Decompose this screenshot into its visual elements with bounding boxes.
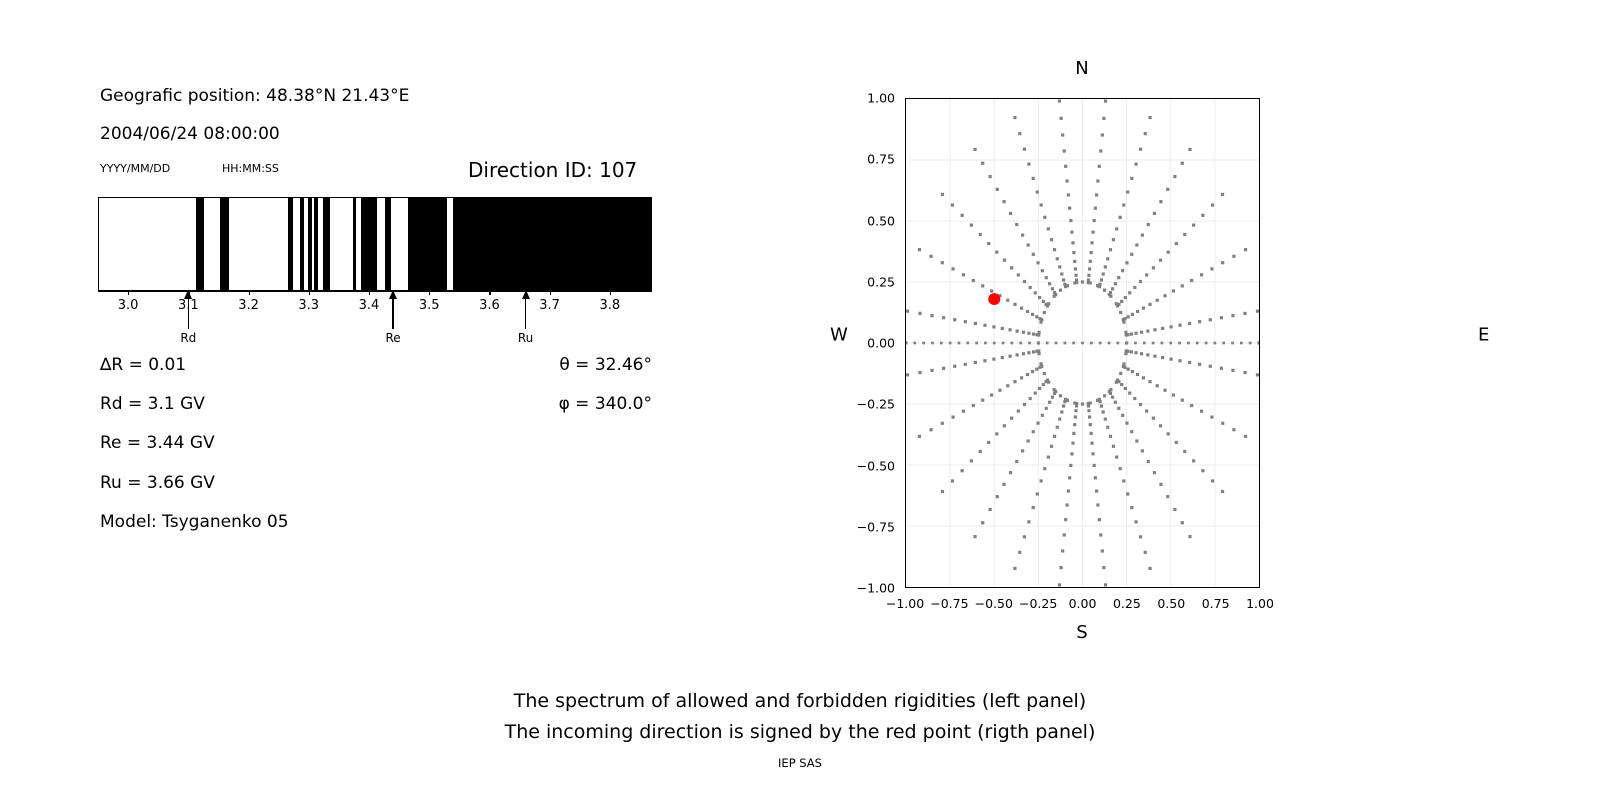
- direction-point: [1243, 312, 1246, 315]
- direction-point: [1142, 376, 1145, 379]
- direction-point: [1073, 423, 1076, 426]
- direction-point: [1090, 432, 1093, 435]
- direction-point: [1147, 460, 1150, 463]
- horizon-point: [1002, 342, 1005, 345]
- direction-point: [1071, 241, 1074, 244]
- incoming-direction-marker: [988, 293, 1000, 305]
- direction-point: [1061, 549, 1064, 552]
- direction-point: [1039, 321, 1042, 324]
- direction-point: [983, 324, 986, 327]
- direction-point: [1023, 403, 1026, 406]
- direction-point: [1220, 316, 1223, 319]
- direction-point: [1130, 332, 1133, 335]
- direction-point: [1109, 392, 1112, 395]
- direction-point: [1169, 325, 1172, 328]
- forbidden-band: [323, 198, 330, 290]
- date-format-hint: YYYY/MM/DD: [100, 163, 170, 174]
- direction-point: [1220, 367, 1223, 370]
- direction-point: [1096, 179, 1099, 182]
- compass-label-south: S: [1076, 622, 1087, 643]
- direction-point: [1045, 276, 1048, 279]
- direction-point: [1104, 265, 1107, 268]
- direction-point: [1096, 284, 1099, 287]
- direction-point: [1128, 291, 1131, 294]
- spectrum-tick-label: 3.6: [479, 298, 500, 313]
- polar-x-tick-label: 0.00: [1069, 596, 1097, 611]
- horizon-point: [1152, 342, 1155, 345]
- direction-point: [1126, 190, 1129, 193]
- direction-point: [1059, 394, 1062, 397]
- direction-point: [1146, 330, 1149, 333]
- spectrum-tick: [610, 291, 611, 295]
- direction-point: [1153, 328, 1156, 331]
- direction-point: [1172, 393, 1175, 396]
- direction-point: [1027, 163, 1030, 166]
- direction-point: [990, 393, 993, 396]
- direction-point: [1256, 310, 1259, 313]
- direction-point: [1103, 289, 1106, 292]
- direction-point: [1066, 284, 1069, 287]
- spectrum-bar-container: [98, 197, 652, 291]
- direction-point: [1127, 368, 1130, 371]
- horizon-point: [1196, 342, 1199, 345]
- direction-point: [1147, 223, 1150, 226]
- direction-point: [1032, 506, 1035, 509]
- compass-label-west: W: [830, 325, 848, 346]
- direction-point: [1198, 320, 1201, 323]
- direction-point: [1073, 281, 1076, 284]
- direction-point: [1119, 216, 1122, 219]
- direction-point: [1141, 449, 1144, 452]
- direction-point: [1181, 399, 1184, 402]
- forbidden-band: [314, 198, 318, 290]
- direction-point: [1047, 227, 1050, 230]
- direction-point: [918, 371, 921, 374]
- marker-arrow-icon: [184, 290, 192, 299]
- direction-point: [906, 373, 909, 376]
- direction-point: [942, 316, 945, 319]
- direction-point: [1093, 464, 1096, 467]
- direction-point: [1102, 566, 1105, 569]
- direction-point: [1122, 203, 1125, 206]
- direction-point: [1109, 435, 1112, 438]
- direction-point: [1200, 410, 1203, 413]
- direction-point: [1072, 251, 1075, 254]
- direction-point: [1032, 177, 1035, 180]
- direction-point: [906, 310, 909, 313]
- direction-point: [951, 479, 954, 482]
- time-format-hint: HH:MM:SS: [222, 163, 279, 174]
- forbidden-band: [308, 198, 312, 290]
- direction-point: [1209, 365, 1212, 368]
- direction-point: [929, 255, 932, 258]
- direction-point: [996, 495, 999, 498]
- direction-point: [995, 251, 998, 254]
- spectrum-tick: [369, 291, 370, 295]
- direction-point: [1209, 318, 1212, 321]
- direction-point: [1016, 353, 1019, 356]
- direction-point: [1038, 387, 1041, 390]
- direction-point: [1058, 99, 1061, 102]
- direction-point: [1123, 317, 1126, 320]
- horizon-point: [1134, 342, 1137, 345]
- spectrum-tick-label: 3.5: [419, 298, 440, 313]
- forbidden-band: [220, 198, 229, 290]
- direction-point: [1003, 259, 1006, 262]
- polar-x-tick-label: 0.50: [1157, 596, 1185, 611]
- horizon-point: [1178, 342, 1181, 345]
- direction-point: [1135, 243, 1138, 246]
- direction-point: [1067, 489, 1070, 492]
- datetime-label: 2004/06/24 08:00:00: [100, 126, 280, 143]
- direction-point: [1002, 200, 1005, 203]
- polar-x-tick-label: −0.25: [1019, 596, 1057, 611]
- direction-point: [1063, 149, 1066, 152]
- direction-point: [1244, 248, 1247, 251]
- forbidden-band: [408, 198, 447, 290]
- direction-point: [1090, 442, 1093, 445]
- horizon-point: [966, 342, 969, 345]
- direction-point: [1139, 403, 1142, 406]
- spectrum-tick-label: 3.7: [539, 298, 560, 313]
- direction-point: [1053, 435, 1056, 438]
- direction-point: [1032, 430, 1035, 433]
- direction-point: [1040, 203, 1043, 206]
- direction-point: [1173, 508, 1176, 511]
- direction-point: [1190, 279, 1193, 282]
- horizon-point: [1081, 342, 1084, 345]
- direction-point: [1126, 492, 1129, 495]
- direction-point: [1093, 219, 1096, 222]
- direction-point: [1104, 417, 1107, 420]
- direction-point: [1111, 396, 1114, 399]
- direction-point: [1089, 401, 1092, 404]
- direction-point: [1109, 388, 1112, 391]
- direction-point: [1166, 495, 1169, 498]
- direction-point: [1148, 567, 1151, 570]
- direction-point: [1053, 388, 1056, 391]
- direction-point: [1062, 404, 1065, 407]
- direction-point: [1021, 449, 1024, 452]
- direction-point: [1200, 273, 1203, 276]
- horizon-point: [906, 342, 907, 345]
- direction-polar-panel: N S W E −1.00−0.75−0.50−0.250.000.250.50…: [800, 0, 1600, 660]
- direction-point: [1161, 356, 1164, 359]
- direction-point: [1035, 368, 1038, 371]
- direction-point: [1036, 190, 1039, 193]
- horizon-point: [1240, 342, 1243, 345]
- horizon-point: [1231, 342, 1234, 345]
- direction-point: [1221, 490, 1224, 493]
- direction-point: [1244, 435, 1247, 438]
- direction-point: [1231, 314, 1234, 317]
- direction-point: [1065, 503, 1068, 506]
- direction-point: [1070, 452, 1073, 455]
- direction-id-label: Direction ID: 107: [468, 160, 637, 180]
- direction-point: [1032, 350, 1035, 353]
- direction-point: [1102, 117, 1105, 120]
- polar-x-tick-label: 0.25: [1113, 596, 1141, 611]
- polar-x-tick-label: −1.00: [886, 596, 924, 611]
- direction-point: [1013, 116, 1016, 119]
- direction-point: [1031, 370, 1034, 373]
- direction-point: [1139, 280, 1142, 283]
- direction-point: [973, 148, 976, 151]
- direction-point: [989, 508, 992, 511]
- direction-point: [1134, 351, 1137, 354]
- direction-point: [1124, 331, 1127, 334]
- forbidden-band: [385, 198, 390, 290]
- direction-point: [1221, 261, 1224, 264]
- direction-point: [1072, 432, 1075, 435]
- direction-point: [1130, 177, 1133, 180]
- horizon-point: [1214, 342, 1217, 345]
- polar-y-tick-label: −0.25: [857, 397, 895, 412]
- spectrum-tick-label: 3.0: [118, 298, 139, 313]
- direction-point: [1232, 255, 1235, 258]
- direction-point: [1027, 520, 1030, 523]
- direction-point: [1020, 307, 1023, 310]
- spectrum-tick-label: 3.3: [298, 298, 319, 313]
- direction-point: [1125, 422, 1128, 425]
- direction-point: [1131, 370, 1134, 373]
- direction-point: [1089, 281, 1092, 284]
- direction-point: [1188, 322, 1191, 325]
- direction-point: [1029, 397, 1032, 400]
- spectrum-tick: [489, 291, 490, 295]
- direction-point: [1095, 489, 1098, 492]
- polar-y-tick-label: 1.00: [867, 91, 895, 106]
- direction-point: [918, 248, 921, 251]
- direction-point: [964, 320, 967, 323]
- direction-point: [1058, 417, 1061, 420]
- direction-point: [1039, 362, 1042, 365]
- direction-point: [1074, 274, 1077, 277]
- direction-point: [1027, 351, 1030, 354]
- direction-point: [987, 242, 990, 245]
- direction-point: [1064, 518, 1067, 521]
- spectrum-tick: [128, 291, 129, 295]
- horizon-point: [913, 342, 916, 345]
- direction-point: [1178, 359, 1181, 362]
- direction-point: [1167, 251, 1170, 254]
- direction-point: [970, 224, 973, 227]
- direction-point: [1104, 99, 1107, 102]
- direction-point: [1051, 396, 1054, 399]
- direction-point: [1099, 533, 1102, 536]
- direction-point: [1135, 520, 1138, 523]
- horizon-point: [1028, 342, 1031, 345]
- direction-point: [1091, 231, 1094, 234]
- direction-point: [1074, 409, 1077, 412]
- horizon-point: [1046, 342, 1049, 345]
- direction-point: [1156, 299, 1159, 302]
- direction-point: [972, 279, 975, 282]
- direction-point: [1090, 251, 1093, 254]
- horizon-point: [1037, 342, 1040, 345]
- horizon-point: [1125, 342, 1128, 345]
- horizon-point: [1249, 342, 1252, 345]
- direction-point: [1060, 566, 1063, 569]
- direction-point: [1096, 503, 1099, 506]
- direction-point: [987, 441, 990, 444]
- direction-point: [1040, 479, 1043, 482]
- polar-x-tick-label: 1.00: [1246, 596, 1274, 611]
- direction-point: [1056, 426, 1059, 429]
- direction-point: [1043, 372, 1046, 375]
- direction-point: [1130, 430, 1133, 433]
- direction-point: [996, 188, 999, 191]
- direction-point: [1221, 193, 1224, 196]
- credit-label: IEP SAS: [0, 756, 1600, 770]
- direction-point: [1015, 223, 1018, 226]
- direction-point: [1122, 479, 1125, 482]
- direction-point: [1018, 132, 1021, 135]
- direction-point: [1130, 253, 1133, 256]
- direction-point: [1009, 471, 1012, 474]
- direction-point: [1221, 422, 1224, 425]
- direction-point: [1232, 428, 1235, 431]
- horizon-point: [1072, 342, 1075, 345]
- direction-point: [1089, 260, 1092, 263]
- direction-point: [1122, 321, 1125, 324]
- direction-point: [1008, 328, 1011, 331]
- direction-point: [1022, 352, 1025, 355]
- direction-point: [1027, 332, 1030, 335]
- direction-point: [1101, 549, 1104, 552]
- direction-point: [1159, 424, 1162, 427]
- polar-y-tick-label: 0.00: [867, 336, 895, 351]
- param-delta-r: ∆R = 0.01: [100, 357, 186, 374]
- polar-x-tick-label: 0.75: [1202, 596, 1230, 611]
- direction-point: [992, 358, 995, 361]
- direction-point: [1088, 415, 1091, 418]
- direction-point: [1153, 471, 1156, 474]
- spectrum-tick-label: 3.4: [359, 298, 380, 313]
- direction-point: [1013, 567, 1016, 570]
- direction-point: [1094, 207, 1097, 210]
- direction-point: [1013, 303, 1016, 306]
- direction-point: [1124, 296, 1127, 299]
- spectrum-tick: [249, 291, 250, 295]
- direction-point: [1036, 492, 1039, 495]
- direction-point: [942, 367, 945, 370]
- direction-point: [1114, 282, 1117, 285]
- polar-x-tick-label: −0.75: [930, 596, 968, 611]
- direction-point: [1121, 414, 1124, 417]
- direction-point: [1136, 310, 1139, 313]
- direction-point: [1027, 243, 1030, 246]
- direction-point: [1023, 148, 1026, 151]
- direction-point: [1060, 272, 1063, 275]
- direction-point: [1102, 272, 1105, 275]
- polar-y-tick-label: 0.50: [867, 213, 895, 228]
- direction-point: [1144, 132, 1147, 135]
- marker-label: Re: [385, 331, 400, 345]
- geographic-position-label: Geografic position: 48.38°N 21.43°E: [100, 88, 409, 105]
- direction-point: [1070, 231, 1073, 234]
- direction-point: [1140, 352, 1143, 355]
- incoming-direction-point: [988, 293, 1000, 305]
- direction-point: [1098, 518, 1101, 521]
- direction-point: [1090, 241, 1093, 244]
- direction-point: [1243, 371, 1246, 374]
- param-phi: φ = 340.0°: [559, 396, 652, 413]
- direction-point: [1100, 404, 1103, 407]
- direction-point: [1136, 373, 1139, 376]
- direction-point: [1124, 387, 1127, 390]
- direction-point: [1043, 311, 1046, 314]
- direction-point: [1060, 410, 1063, 413]
- direction-point: [979, 450, 982, 453]
- horizon-point: [1019, 342, 1022, 345]
- spectrum-tick-label: 3.8: [600, 298, 621, 313]
- polar-x-tick-label: −0.50: [975, 596, 1013, 611]
- direction-point: [1119, 311, 1122, 314]
- direction-point: [1032, 253, 1035, 256]
- direction-point: [1056, 257, 1059, 260]
- direction-point: [1058, 265, 1061, 268]
- direction-point: [1047, 381, 1050, 384]
- marker-arrow-icon: [389, 290, 397, 299]
- direction-point: [1094, 476, 1097, 479]
- direction-point: [1141, 233, 1144, 236]
- forbidden-band: [288, 198, 293, 290]
- polar-y-tick-label: −0.50: [857, 458, 895, 473]
- direction-point: [1133, 397, 1136, 400]
- forbidden-band: [361, 198, 377, 290]
- direction-point: [930, 369, 933, 372]
- polar-y-tick-label: 0.75: [867, 152, 895, 167]
- direction-point: [1026, 373, 1029, 376]
- direction-point: [1103, 394, 1106, 397]
- direction-point: [1117, 407, 1120, 410]
- direction-point: [951, 267, 954, 270]
- direction-point: [1002, 483, 1005, 486]
- direction-point: [929, 428, 932, 431]
- direction-point: [1075, 278, 1078, 281]
- direction-point: [1042, 383, 1045, 386]
- direction-point: [1127, 315, 1130, 318]
- direction-point: [1166, 188, 1169, 191]
- direction-point: [1159, 259, 1162, 262]
- direction-point: [1074, 267, 1077, 270]
- direction-point: [1016, 330, 1019, 333]
- direction-point: [1032, 332, 1035, 335]
- direction-point: [981, 284, 984, 287]
- direction-point: [1081, 280, 1084, 283]
- param-rd: Rd = 3.1 GV: [100, 396, 205, 413]
- direction-point: [1001, 327, 1004, 330]
- polar-y-tick-label: −0.75: [857, 519, 895, 534]
- direction-point: [1047, 302, 1050, 305]
- direction-point: [1156, 384, 1159, 387]
- polar-scatter-plot: [905, 98, 1260, 588]
- direction-point: [1112, 445, 1115, 448]
- direction-point: [1008, 355, 1011, 358]
- forbidden-band: [353, 198, 356, 290]
- direction-point: [1036, 422, 1039, 425]
- direction-point: [1161, 327, 1164, 330]
- horizon-point: [1055, 342, 1058, 345]
- horizon-point: [949, 342, 952, 345]
- direction-point: [1122, 362, 1125, 365]
- direction-point: [1045, 407, 1048, 410]
- direction-point: [1037, 331, 1040, 334]
- direction-point: [1018, 551, 1021, 554]
- direction-point: [1135, 439, 1138, 442]
- direction-point: [1053, 295, 1056, 298]
